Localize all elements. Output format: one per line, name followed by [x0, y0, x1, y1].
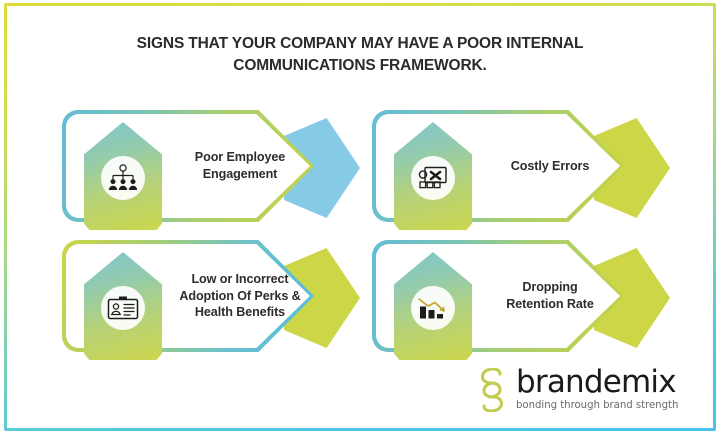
- interlocking-s-mark-icon: [472, 368, 512, 412]
- card-poor-employee-engagement[interactable]: Poor Employee Engagement: [62, 110, 362, 228]
- card-label-line-2: Adoption Of Perks &: [179, 288, 300, 305]
- card-label: Low or Incorrect Adoption Of Perks & Hea…: [170, 240, 310, 352]
- logo-wordmark: brandemix: [516, 366, 678, 399]
- page-title-line-2: COMMUNICATIONS FRAMEWORK.: [60, 55, 660, 77]
- card-costly-errors[interactable]: Costly Errors: [372, 110, 672, 228]
- card-label-line-1: Low or Incorrect: [179, 271, 300, 288]
- card-icon-circle: [101, 286, 145, 330]
- card-icon-circle: [411, 156, 455, 200]
- card-label-line-1: Dropping: [506, 279, 593, 296]
- id-badge-card-icon: [107, 295, 139, 321]
- card-low-or-incorrect-adoption[interactable]: Low or Incorrect Adoption Of Perks & Hea…: [62, 240, 362, 358]
- card-label-line-3: Health Benefits: [179, 304, 300, 321]
- page-title: SIGNS THAT YOUR COMPANY MAY HAVE A POOR …: [60, 33, 660, 78]
- card-label: Poor Employee Engagement: [170, 110, 310, 222]
- declining-bar-chart-icon: [417, 295, 449, 321]
- card-label-line-1: Poor Employee: [195, 149, 285, 166]
- card-label: Costly Errors: [480, 110, 620, 222]
- card-label-line-1: Costly Errors: [511, 158, 590, 175]
- card-label-line-2: Retention Rate: [506, 296, 593, 313]
- brandemix-logo[interactable]: brandemix bonding through brand strength: [472, 366, 694, 418]
- card-dropping-retention-rate[interactable]: Dropping Retention Rate: [372, 240, 672, 358]
- card-label-line-2: Engagement: [195, 166, 285, 183]
- screen-error-x-icon: [418, 165, 448, 191]
- page-title-line-1: SIGNS THAT YOUR COMPANY MAY HAVE A POOR …: [60, 33, 660, 55]
- infographic-canvas: SIGNS THAT YOUR COMPANY MAY HAVE A POOR …: [0, 0, 720, 434]
- card-icon-circle: [411, 286, 455, 330]
- card-icon-circle: [101, 156, 145, 200]
- card-label: Dropping Retention Rate: [480, 240, 620, 352]
- logo-tagline: bonding through brand strength: [516, 400, 678, 411]
- org-chart-people-icon: [108, 164, 138, 192]
- logo-text-block: brandemix bonding through brand strength: [516, 366, 678, 411]
